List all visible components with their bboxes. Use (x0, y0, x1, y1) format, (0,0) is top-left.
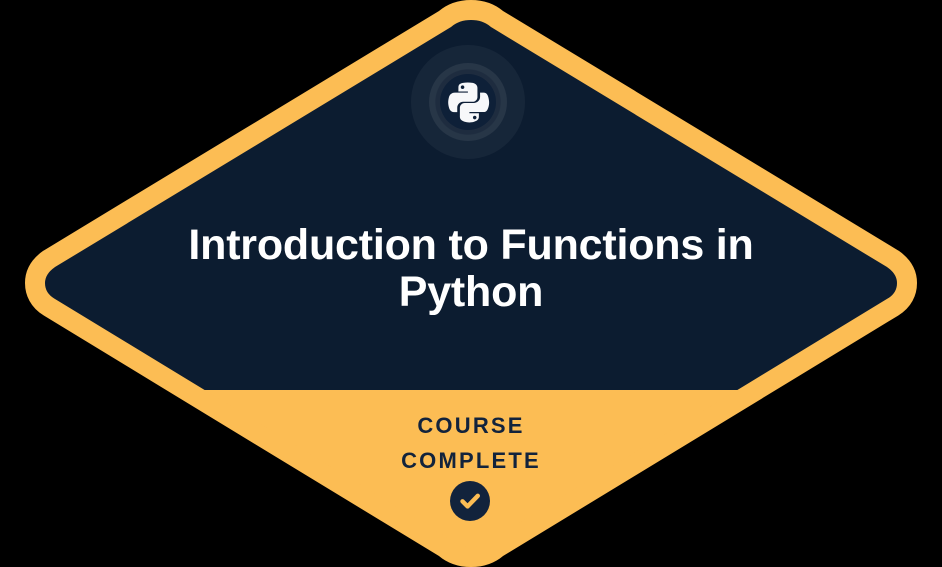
diamond-lower-fill (0, 390, 942, 567)
check-circle-icon (450, 481, 490, 521)
python-logo-icon (446, 80, 490, 124)
python-emblem (411, 45, 525, 159)
badge-stage: Introduction to Functions in Python COUR… (0, 0, 942, 567)
